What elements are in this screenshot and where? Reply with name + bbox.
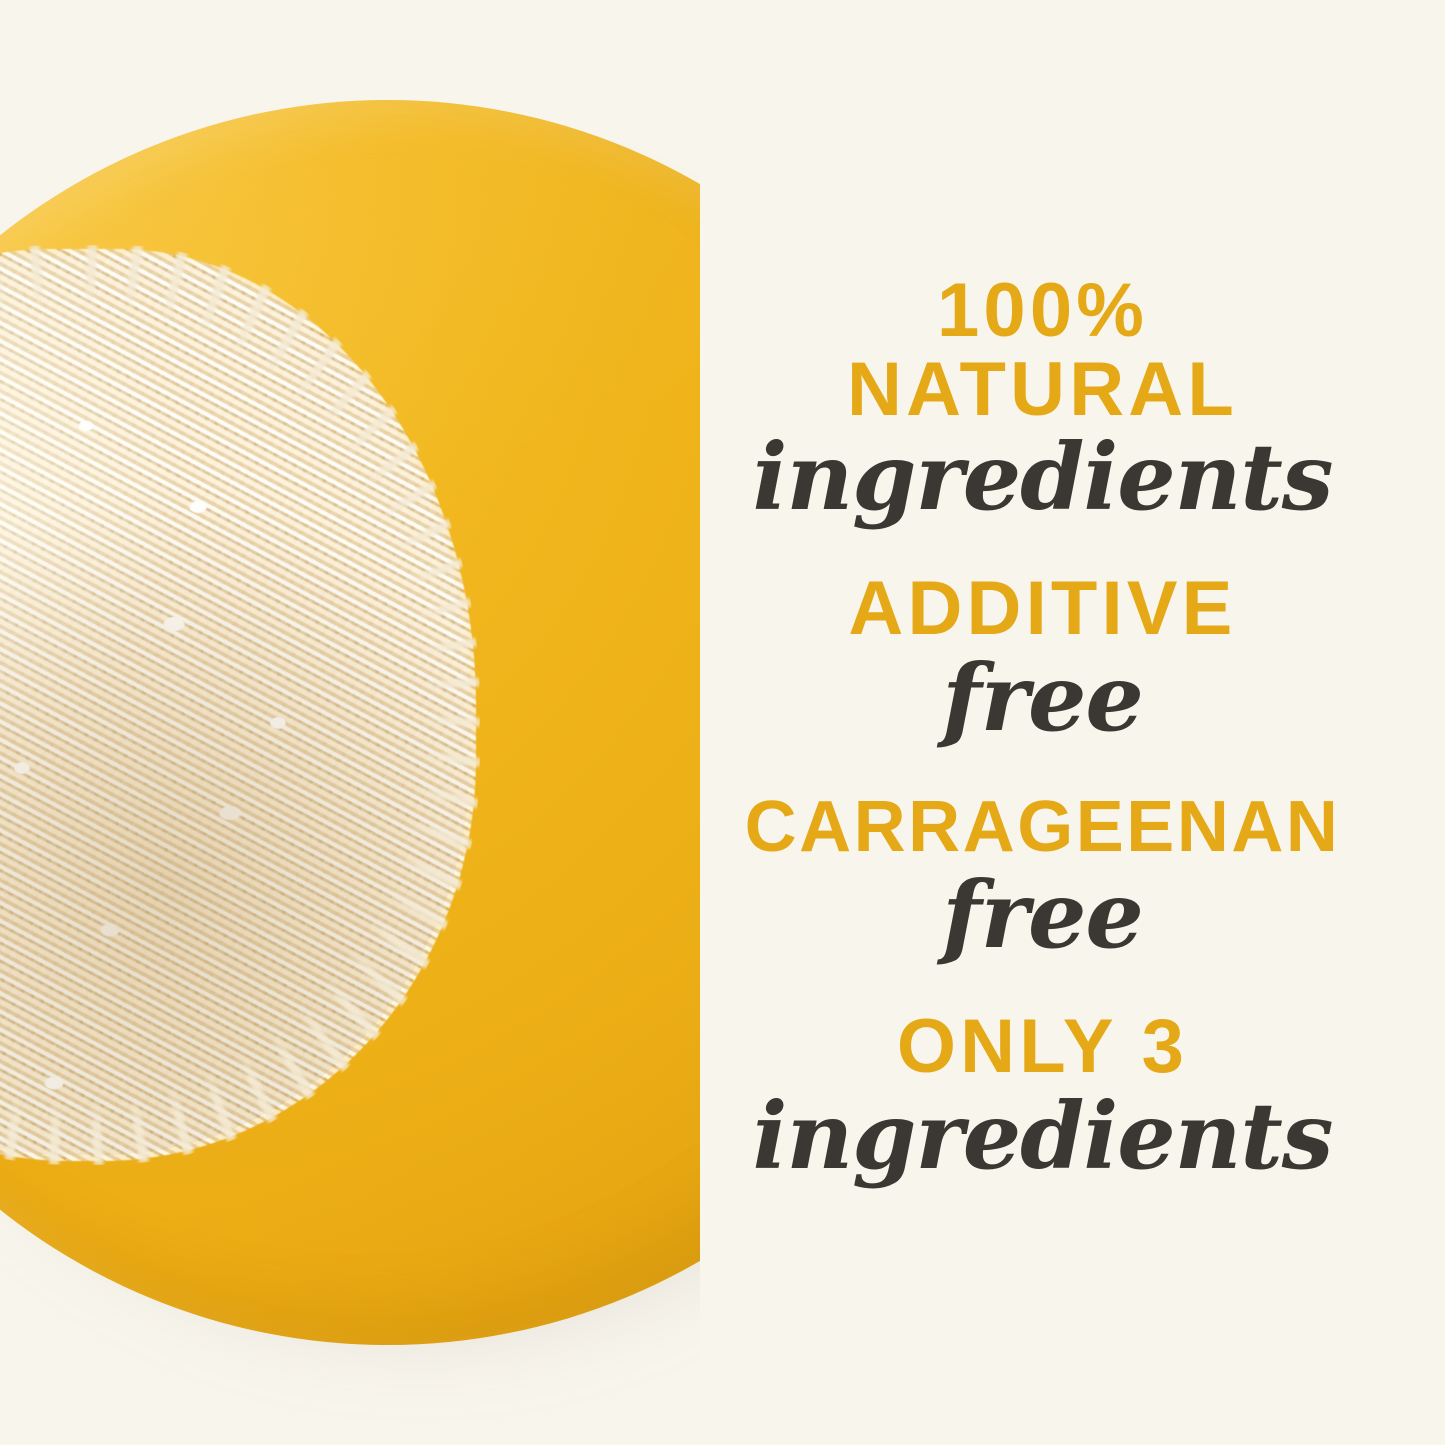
claim-item-additive-free: ADDITIVE free (640, 569, 1445, 744)
claim-heading: ONLY 3 (640, 1007, 1445, 1086)
claim-heading: 100% NATURAL (640, 271, 1445, 429)
claim-item-only-3-ingredients: ONLY 3 ingredients (640, 1007, 1445, 1182)
claim-subheading: free (640, 869, 1445, 961)
food-ragged-edge (0, 245, 480, 1165)
claim-item-carrageenan-free: CARRAGEENAN free (640, 790, 1445, 961)
product-claims-panel: 100% NATURAL ingredients ADDITIVE free C… (0, 0, 1445, 1445)
claim-subheading: ingredients (640, 431, 1445, 523)
claim-heading: ADDITIVE (640, 569, 1445, 648)
claim-subheading: free (640, 652, 1445, 744)
plate-photo (0, 0, 700, 1445)
shredded-chicken-mound (0, 255, 470, 1155)
claim-item-natural-ingredients: 100% NATURAL ingredients (640, 271, 1445, 523)
claim-subheading: ingredients (640, 1090, 1445, 1182)
claims-list: 100% NATURAL ingredients ADDITIVE free C… (640, 0, 1445, 1445)
claim-heading: CARRAGEENAN (640, 790, 1445, 865)
